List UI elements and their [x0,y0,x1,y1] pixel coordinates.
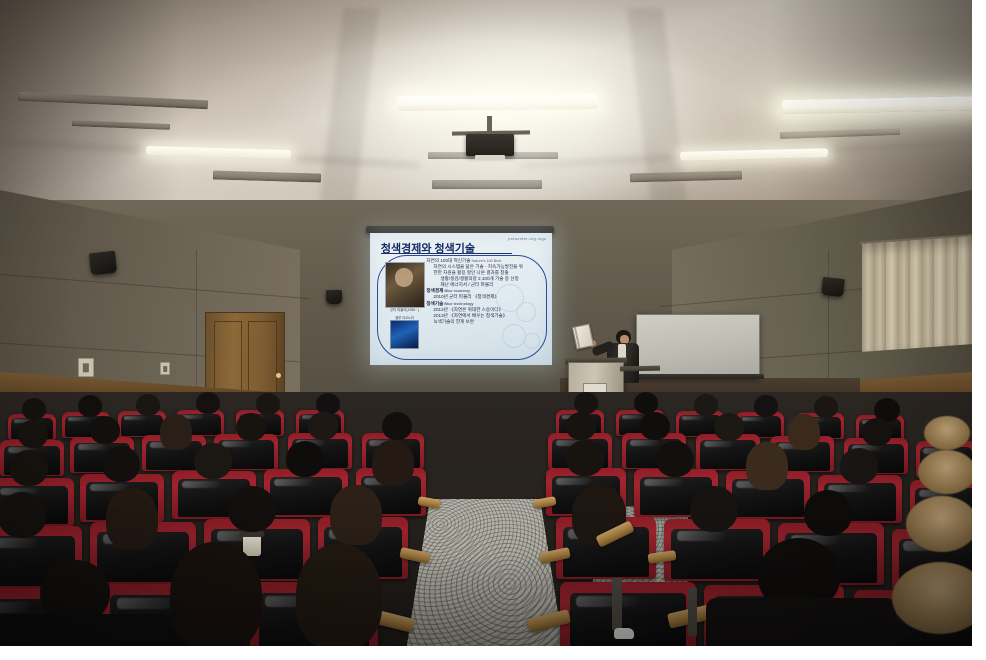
person-shoulders [706,598,896,646]
person-head [18,420,48,448]
audience-area [0,392,972,646]
slide-book-cover [390,320,419,348]
person-head [194,443,232,479]
slide-book-caption: 블루 이코노미 [383,315,427,320]
person-head [90,416,120,444]
person-head [136,394,160,416]
person-hair [330,485,382,545]
person-head [694,394,718,416]
slide-portrait-photo [385,262,425,308]
projection-screen: presenter-org-logo 청색경제와 청색기술 군터 파울리(195… [370,233,552,365]
person-head [286,441,324,477]
fur-hood [906,496,972,552]
person-head [382,412,412,440]
slide-decoration [490,278,548,357]
person-head [22,398,46,420]
lecture-hall-photo: presenter-org-logo 청색경제와 청색기술 군터 파울리(195… [0,0,972,646]
person-head [814,396,838,418]
wall-speaker-right [821,277,845,297]
presentation-slide: presenter-org-logo 청색경제와 청색기술 군터 파울리(195… [370,233,552,365]
person-head [0,492,46,538]
person-head [862,418,892,446]
projector-lens [475,155,505,160]
person-head [236,413,266,441]
person-hair [170,542,262,646]
door-knob[interactable] [276,373,281,378]
person-head [228,486,276,532]
ceiling [0,0,972,232]
slide-line-english: Blue economy [443,289,470,293]
slide-portrait-caption: 군터 파울리(1956~ ) [379,307,430,312]
person-head [574,392,598,414]
deco-circle [502,324,526,348]
ceiling-projector [466,134,514,156]
slide-line-english: Nature's 100 Best [470,259,501,263]
seat-leg [688,588,697,636]
wall-outlet[interactable] [78,358,94,377]
coffee-cup[interactable] [243,534,261,556]
person-hair [296,544,382,646]
person-head [640,412,670,440]
person-head [634,392,658,414]
slide-line-english: Blue technology [443,302,473,306]
person-head [754,395,778,417]
person-head [256,393,280,415]
projector-mount-arm [487,116,492,132]
person-head [804,490,852,536]
person-head [566,412,596,440]
person-head [690,486,738,532]
seat-leg [612,578,622,630]
shoe [614,628,634,639]
person-head [566,440,604,476]
wall-speaker-center-left [326,290,342,304]
window-curtain-right[interactable] [862,236,972,352]
person-hair [160,414,192,450]
whiteboard-ledge [630,374,764,379]
wall-speaker-left [89,251,117,276]
person-hair [372,440,414,486]
person-hair [106,488,158,550]
person-head [714,413,744,441]
person-head [308,412,338,440]
deco-circle [524,333,540,349]
podium-desk [620,366,660,372]
person-head [656,441,694,477]
person-head [10,450,48,486]
slide-title-rule [381,253,512,255]
wall-outlet[interactable] [160,362,170,375]
slide-logo: presenter-org-logo [508,236,546,241]
projection-screen-case [366,226,554,233]
person-head [102,446,140,482]
person-shoulders [0,614,170,646]
wall-seam [196,250,197,400]
person-hair [788,414,820,450]
person-head [196,392,220,414]
deco-circle [516,302,536,322]
person-hair [746,442,788,490]
person-head [840,448,878,484]
ceiling-light-glare [300,0,720,220]
fur-hood [924,416,970,450]
fur-hood [918,450,972,494]
person-head [78,395,102,417]
